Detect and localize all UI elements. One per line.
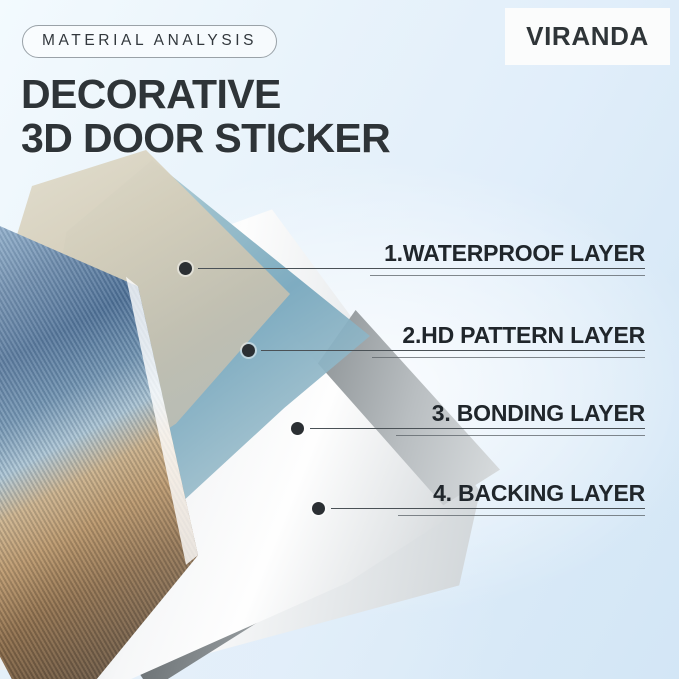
callout-underline-backing <box>398 515 645 516</box>
callout-underline-waterproof <box>370 275 645 276</box>
callout-leader-line-waterproof <box>198 268 645 269</box>
callout-dot-backing <box>312 502 325 515</box>
page-title: DECORATIVE 3D DOOR STICKER <box>21 72 390 161</box>
product-material-infographic: MATERIAL ANALYSIS DECORATIVE 3D DOOR STI… <box>0 0 679 679</box>
callout-dot-hd-pattern <box>242 344 255 357</box>
callout-label-bonding: 3. BONDING LAYER <box>432 400 645 427</box>
callout-label-backing: 4. BACKING LAYER <box>433 480 645 507</box>
callout-underline-hd-pattern <box>372 357 645 358</box>
callout-underline-bonding <box>396 435 645 436</box>
callout-leader-line-backing <box>331 508 645 509</box>
brand-logo-text: VIRANDA <box>526 21 649 52</box>
callout-leader-line-bonding <box>310 428 645 429</box>
callout-label-waterproof: 1.WATERPROOF LAYER <box>384 240 645 267</box>
eyebrow-badge: MATERIAL ANALYSIS <box>22 25 277 58</box>
callout-leader-line-hd-pattern <box>261 350 645 351</box>
layered-sticker-illustration <box>0 160 500 679</box>
callout-label-hd-pattern: 2.HD PATTERN LAYER <box>402 322 645 349</box>
callout-dot-bonding <box>291 422 304 435</box>
brand-logo-box: VIRANDA <box>505 8 670 65</box>
title-line-2: 3D DOOR STICKER <box>21 116 390 160</box>
title-line-1: DECORATIVE <box>21 71 281 117</box>
callout-dot-waterproof <box>179 262 192 275</box>
